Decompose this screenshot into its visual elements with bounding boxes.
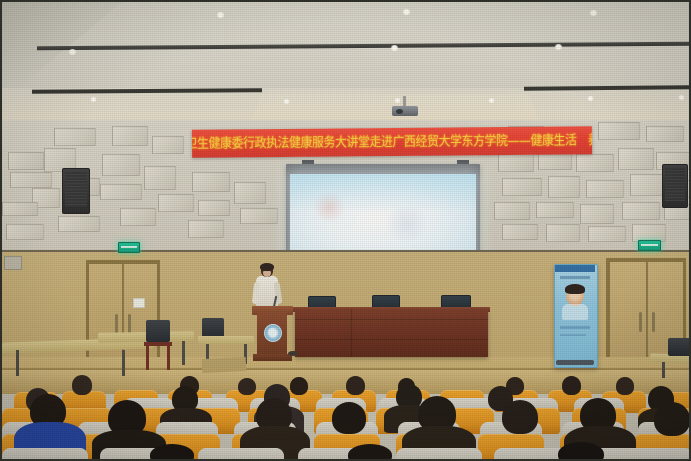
side-table [198, 336, 254, 344]
acoustic-panel [536, 202, 574, 218]
acoustic-panel [546, 224, 580, 242]
downlight [283, 99, 290, 104]
downlight [90, 97, 97, 102]
downlight [394, 98, 401, 103]
floor-object [288, 351, 298, 356]
acoustic-panel [10, 172, 52, 188]
downlight [678, 95, 685, 100]
downlight [587, 96, 594, 101]
acoustic-panel [598, 122, 640, 140]
roll-up-banner-line [560, 326, 590, 329]
side-chair-back-right [668, 338, 690, 356]
event-banner: 南宁市卫生健康委行政执法健康服务大讲堂走进广西经贸大学东方学院——健康生活 养生… [192, 126, 592, 157]
acoustic-panel [188, 220, 224, 238]
roll-up-banner-line [560, 334, 586, 336]
attendee-head [238, 378, 256, 395]
acoustic-panel [234, 182, 266, 204]
downlight [390, 45, 399, 51]
attendee-head [346, 376, 365, 395]
attendee-head [72, 375, 92, 395]
attendee-head [558, 442, 604, 461]
event-banner-text: 南宁市卫生健康委行政执法健康服务大讲堂走进广西经贸大学东方学院——健康生活 养生… [192, 133, 592, 150]
presenter-hair [260, 263, 274, 271]
auditorium-photo: 南宁市卫生健康委行政执法健康服务大讲堂走进广西经贸大学东方学院——健康生活 养生… [0, 0, 691, 461]
acoustic-panel [152, 136, 184, 154]
side-table-leg [122, 350, 125, 376]
downlight [488, 98, 495, 103]
acoustic-panel [144, 166, 176, 190]
acoustic-panel [192, 172, 230, 192]
acoustic-panel [580, 204, 614, 224]
acoustic-panel [102, 154, 140, 176]
acoustic-panel [622, 202, 660, 220]
wall-speaker-right [662, 164, 688, 208]
roll-up-banner-portrait-hair [565, 284, 585, 294]
acoustic-panel [100, 184, 142, 200]
roll-up-banner-base [556, 360, 594, 365]
acoustic-panel [54, 128, 96, 146]
door-right-split [646, 262, 648, 361]
acoustic-panel [646, 126, 684, 142]
acoustic-panel [6, 224, 44, 240]
attendee-head [290, 377, 308, 395]
audience-area [2, 374, 691, 461]
downlight [216, 12, 225, 18]
panel-table [295, 309, 488, 357]
acoustic-panel [2, 202, 38, 216]
attendee-head [502, 400, 538, 434]
side-chair-back [202, 318, 224, 338]
acoustic-panel [548, 176, 580, 198]
downlight [68, 49, 77, 55]
wall-speaker-left [62, 168, 90, 214]
acoustic-panel [158, 194, 194, 212]
roll-up-banner-header [555, 265, 595, 272]
door-right-handle[interactable] [652, 312, 655, 332]
acoustic-panel [618, 148, 654, 170]
exit-sign-left [118, 242, 140, 253]
acoustic-panel [8, 152, 44, 170]
acoustic-panel [576, 154, 614, 172]
seat-back [198, 448, 284, 461]
side-chair-leg [167, 346, 170, 370]
acoustic-panel [502, 224, 538, 240]
attendee-head [348, 444, 392, 461]
side-table-leg [16, 350, 19, 376]
wall-control-plate-left[interactable] [4, 256, 22, 270]
acoustic-panel [120, 208, 156, 226]
lectern-base [253, 354, 292, 361]
attendee-head [150, 444, 194, 461]
roll-up-banner-title [560, 276, 590, 279]
door-left-sign [133, 298, 145, 308]
downlight [589, 10, 598, 16]
acoustic-panel [58, 216, 100, 232]
acoustic-panel [586, 180, 624, 198]
seat-back [592, 448, 691, 461]
downlight [554, 44, 563, 50]
projector-lens-icon [396, 109, 403, 114]
downlight [402, 9, 411, 15]
attendee-head [332, 402, 366, 434]
attendee-head [654, 402, 690, 436]
acoustic-panel [630, 174, 664, 196]
acoustic-panel [198, 200, 230, 216]
roll-up-banner-portrait-body [562, 304, 588, 320]
acoustic-panel [494, 202, 530, 220]
door-right-handle[interactable] [639, 312, 642, 332]
side-chair-leg [146, 346, 149, 370]
attendee-head [562, 376, 581, 395]
stage-step [202, 357, 247, 373]
exit-sign-right [638, 240, 661, 251]
door-left-handle[interactable] [115, 314, 118, 334]
seat-back [2, 448, 88, 461]
acoustic-panel [588, 226, 626, 242]
side-chair-back [146, 320, 170, 342]
attendee-head [616, 377, 634, 395]
lectern-emblem-inner [268, 328, 276, 336]
seat-back [396, 448, 482, 461]
door-left-handle[interactable] [128, 314, 131, 334]
acoustic-panel [112, 126, 148, 146]
acoustic-panel [502, 178, 542, 196]
side-table-leg [182, 341, 185, 365]
